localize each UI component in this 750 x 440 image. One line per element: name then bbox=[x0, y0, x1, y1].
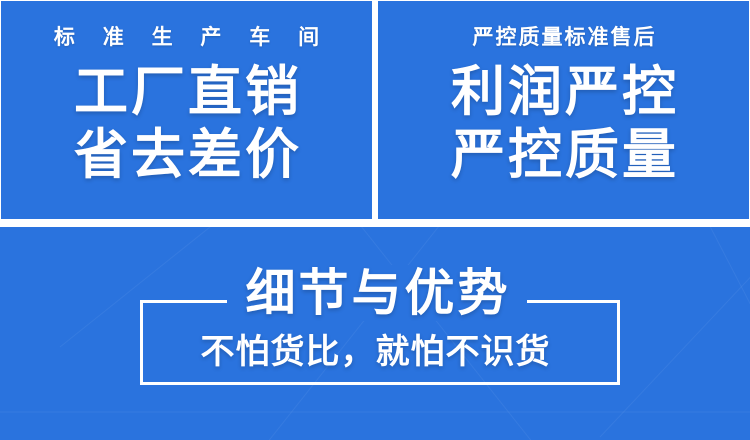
panel-details-advantages: 细节与优势 不怕货比，就怕不识货 bbox=[0, 227, 750, 440]
panel-quality-control-content: 严控质量标准售后 利润严控 严控质量 bbox=[378, 1, 749, 219]
details-advantages-title-text: 细节与优势 bbox=[227, 265, 527, 321]
promo-banner: 标 准 生 产 车 间 工厂直销 省去差价 严控质量标准售后 利润严控 严控质量… bbox=[0, 0, 750, 440]
panel-quality-control-headline-line1: 利润严控 bbox=[448, 61, 679, 124]
panel-quality-control-eyebrow: 严控质量标准售后 bbox=[471, 25, 657, 51]
panel-factory-direct: 标 准 生 产 车 间 工厂直销 省去差价 bbox=[1, 1, 372, 219]
panel-quality-control: 严控质量标准售后 利润严控 严控质量 bbox=[378, 1, 749, 219]
panel-factory-direct-content: 标 准 生 产 车 间 工厂直销 省去差价 bbox=[1, 1, 372, 219]
panel-factory-direct-eyebrow: 标 准 生 产 车 间 bbox=[43, 25, 330, 51]
details-advantages-subtitle: 不怕货比，就怕不识货 bbox=[0, 332, 750, 372]
details-advantages-title: 细节与优势 bbox=[0, 265, 750, 321]
panel-quality-control-headline-line2: 严控质量 bbox=[448, 124, 679, 187]
panel-factory-direct-headline-line1: 工厂直销 bbox=[71, 61, 302, 124]
panel-factory-direct-headline-line2: 省去差价 bbox=[71, 124, 302, 187]
